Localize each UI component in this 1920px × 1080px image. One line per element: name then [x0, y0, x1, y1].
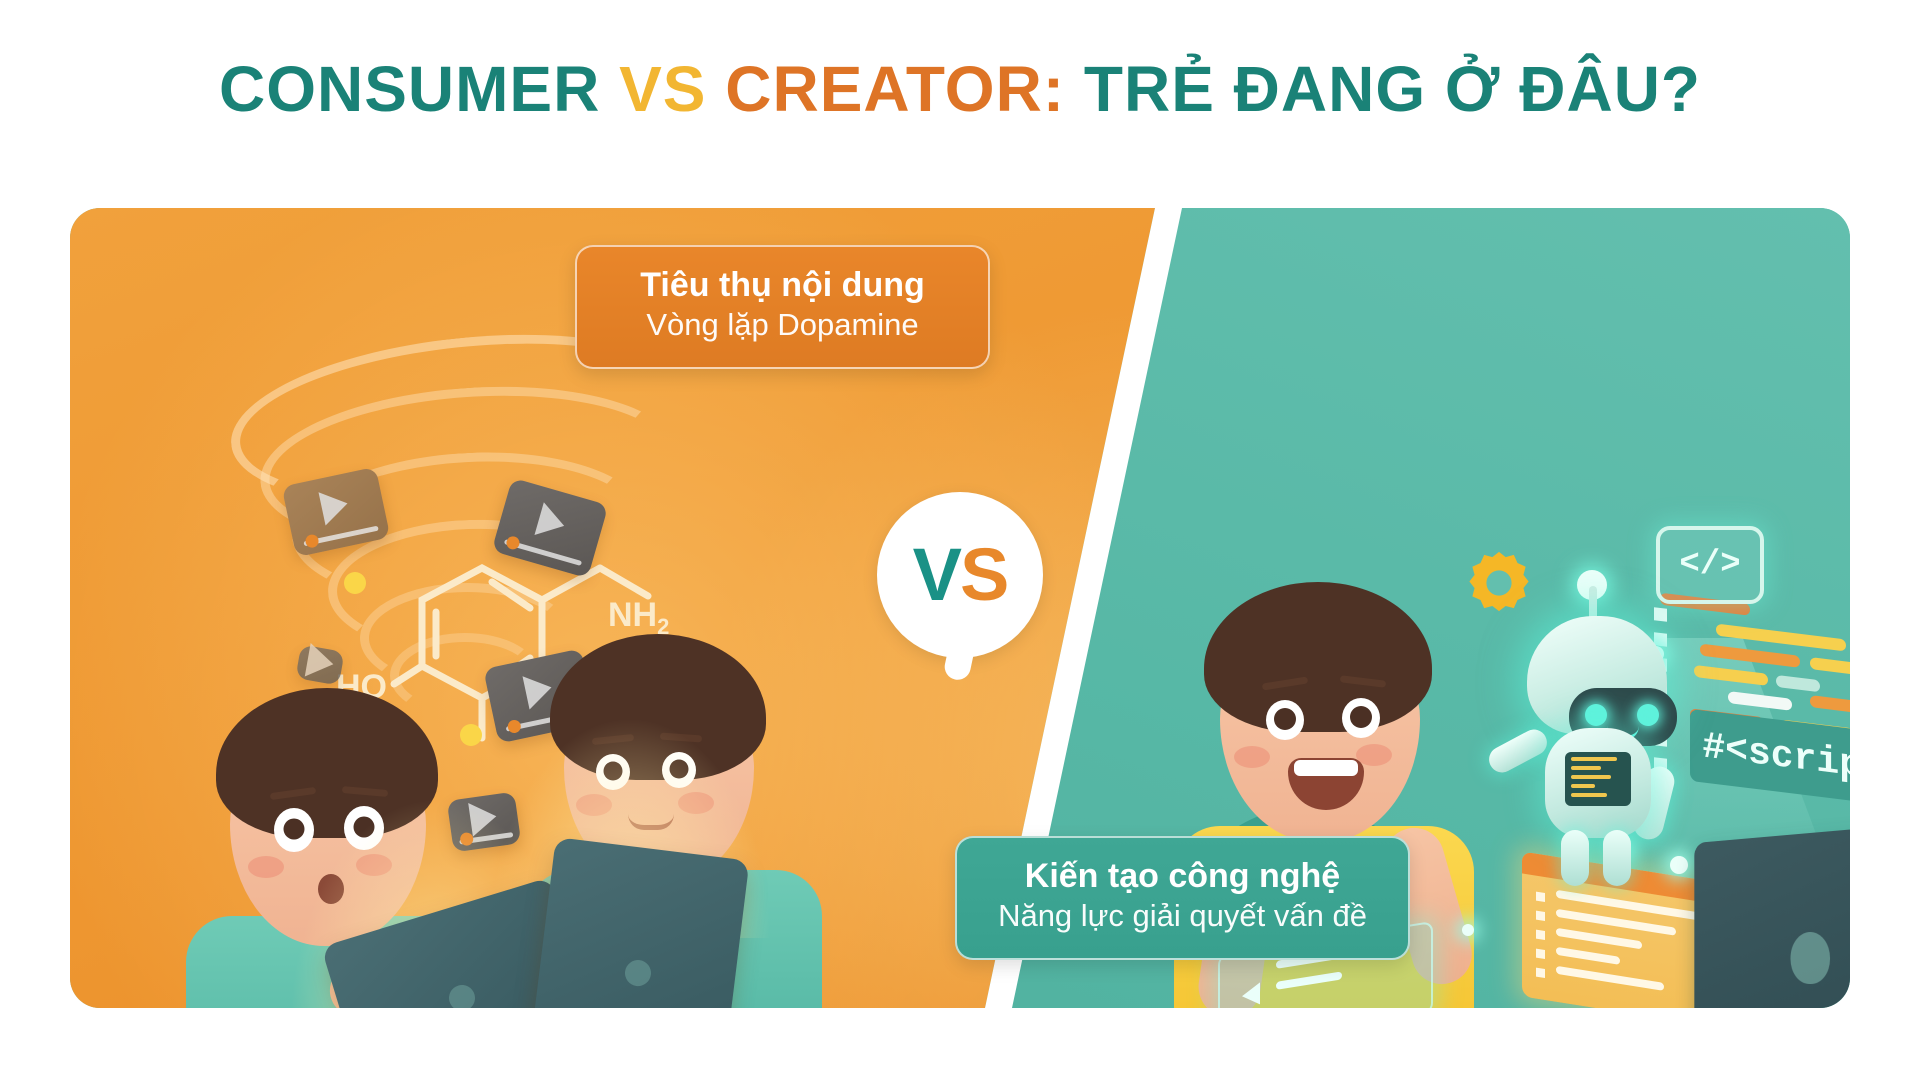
vs-letter-v: V: [913, 533, 960, 616]
label-card-consume: Tiêu thụ nội dung Vòng lặp Dopamine: [575, 245, 990, 369]
title-part-question: TRẺ ĐANG Ở ĐÂU?: [1084, 53, 1701, 125]
laptop-lid: [1694, 821, 1850, 1008]
play-icon: [305, 643, 337, 681]
robot-body: [1545, 728, 1651, 838]
label-card-consume-title: Tiêu thụ nội dung: [611, 265, 954, 306]
infographic-canvas: CONSUMER VS CREATOR: TRẺ ĐANG Ở ĐÂU?: [0, 0, 1920, 1080]
sparkle-icon: [1462, 924, 1474, 936]
molecule-dot: [344, 572, 366, 594]
robot-eye-icon: [1637, 704, 1659, 726]
vs-letter-s: S: [960, 533, 1007, 616]
laptop-logo-icon: [1790, 932, 1830, 985]
vs-badge-text: VS: [913, 538, 1008, 612]
play-icon: [319, 487, 352, 526]
title-part-creator: CREATOR:: [725, 53, 1084, 125]
page-title: CONSUMER VS CREATOR: TRẺ ĐANG Ở ĐÂU?: [0, 52, 1920, 126]
robot-eye-icon: [1585, 704, 1607, 726]
play-icon: [534, 502, 568, 542]
robot-chest-screen: [1565, 752, 1631, 806]
cursor-arrow-icon: [1242, 982, 1260, 1007]
vs-badge: VS: [877, 492, 1043, 658]
title-part-vs: VS: [619, 53, 725, 125]
robot-head: [1527, 616, 1667, 734]
label-card-consume-subtitle: Vòng lặp Dopamine: [611, 306, 954, 345]
tablet-device: [525, 837, 749, 1008]
title-part-consumer: CONSUMER: [219, 53, 619, 125]
label-card-create-title: Kiến tạo công nghệ: [991, 856, 1374, 897]
label-card-create-subtitle: Năng lực giải quyết vấn đề: [991, 897, 1374, 936]
laptop-device: [1550, 833, 1850, 1008]
label-card-create: Kiến tạo công nghệ Năng lực giải quyết v…: [955, 836, 1410, 960]
